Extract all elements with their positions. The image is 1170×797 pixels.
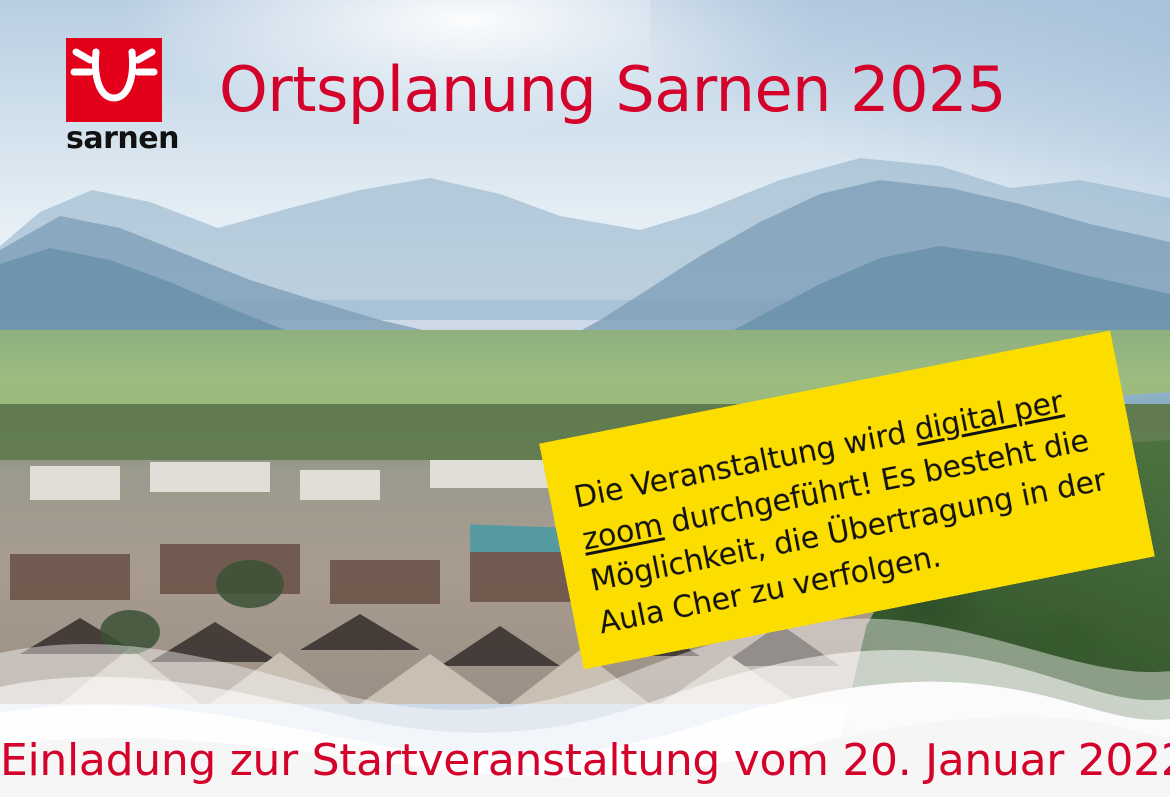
page-title: Ortsplanung Sarnen 2025 [219, 59, 1006, 121]
sarnen-crest-icon [66, 38, 162, 122]
logo-wordmark: sarnen [66, 124, 176, 154]
sarnen-logo[interactable]: sarnen [66, 38, 172, 160]
poster: sarnen Ortsplanung Sarnen 2025 Die Veran… [0, 0, 1170, 797]
event-caption: Einladung zur Startveranstaltung vom 20.… [0, 739, 1170, 783]
